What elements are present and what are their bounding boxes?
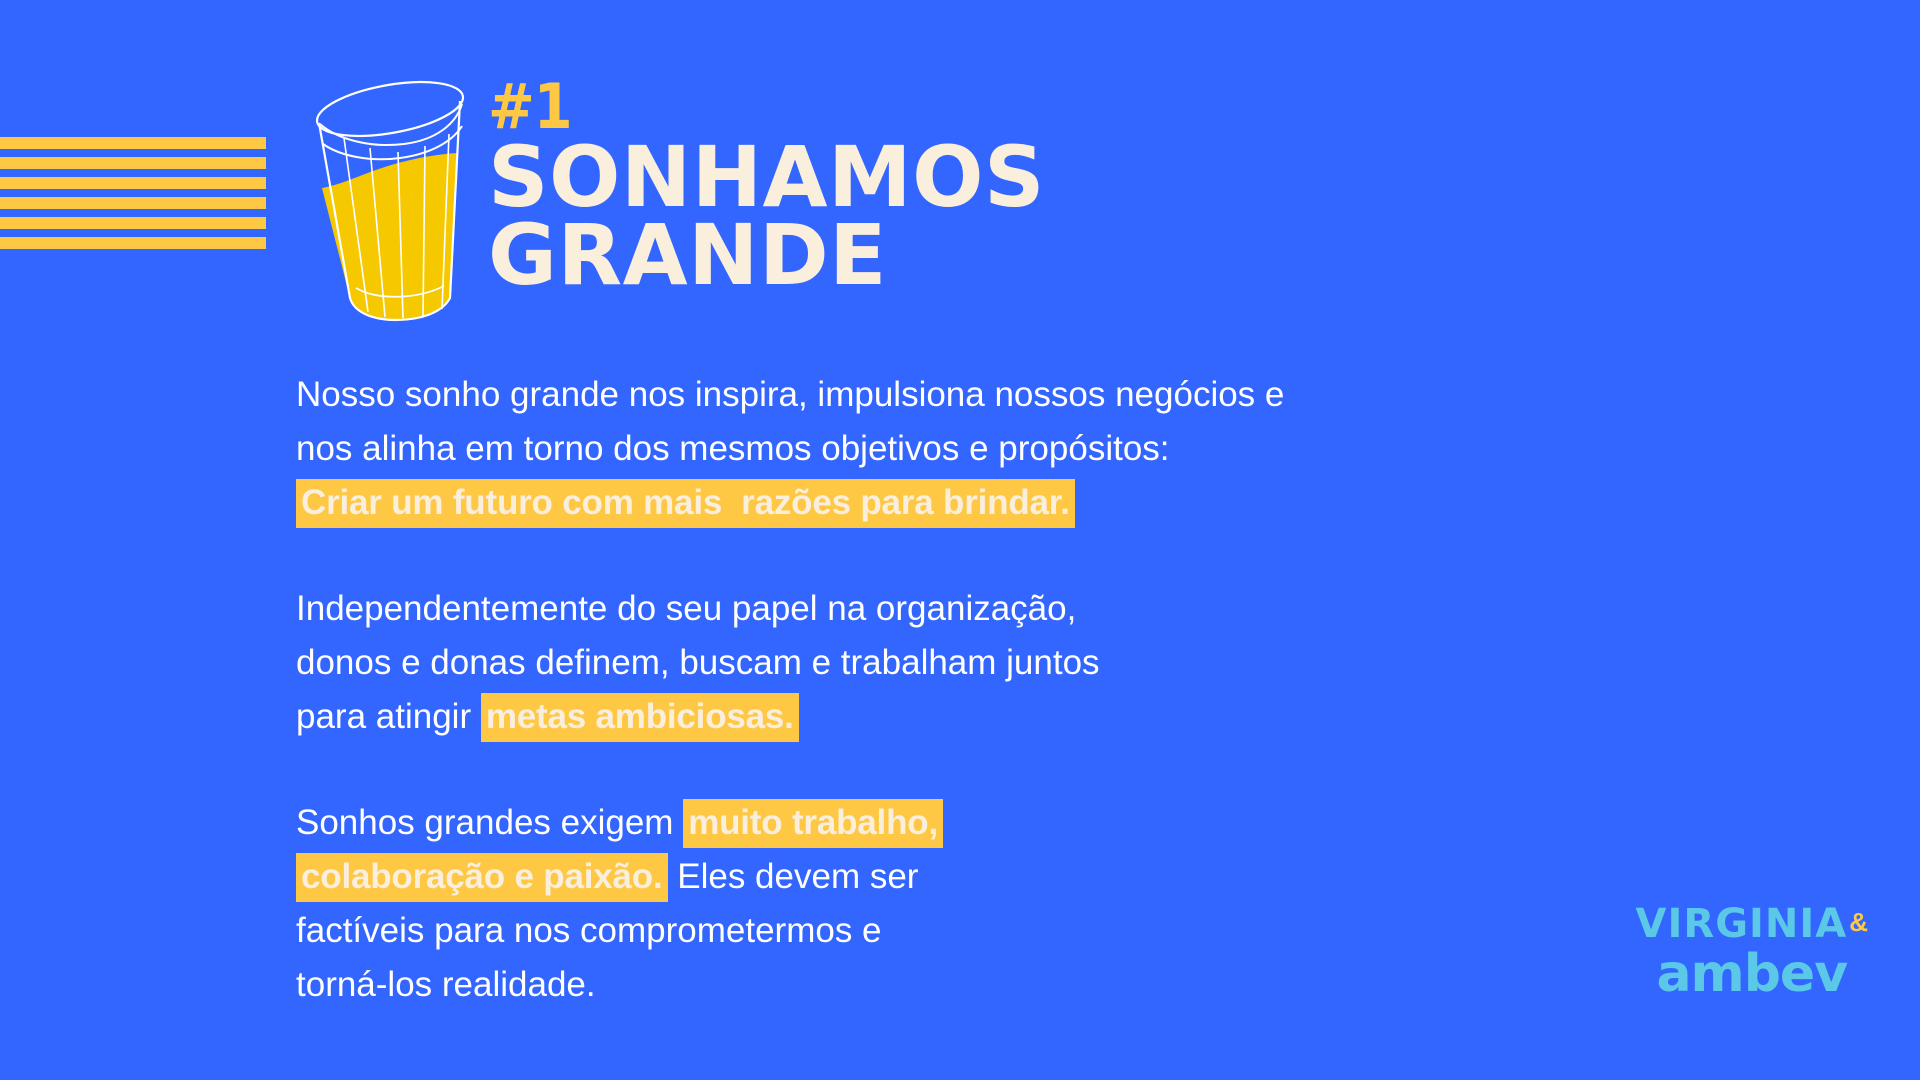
body-line: colaboração e paixão. Eles devem ser [296,850,1546,904]
logo-top-row: VIRGINIA& [1636,904,1868,944]
stripe-bar [0,197,266,209]
headline-line-1: SONHAMOS [488,141,1188,215]
headline-block: #1 SONHAMOS GRANDE [488,78,1188,293]
highlighted-text: metas ambiciosas. [481,693,799,742]
highlighted-text: Criar um futuro com mais razões para bri… [296,479,1075,528]
body-paragraph: Nosso sonho grande nos inspira, impulsio… [296,368,1546,530]
body-text: Nosso sonho grande nos inspira, impulsio… [296,375,1284,414]
stripe-bar [0,177,266,189]
stripe-bar [0,237,266,249]
logo-ambev-text: ambev [1636,948,1868,1000]
body-text: Sonhos grandes exigem [296,803,683,842]
body-text: factíveis para nos comprometermos e [296,911,882,950]
body-text: para atingir [296,697,481,736]
body-line: Sonhos grandes exigem muito trabalho, [296,796,1546,850]
body-line: donos e donas definem, buscam e trabalha… [296,636,1546,690]
body-line: torná-los realidade. [296,958,1546,1012]
slide-canvas: #1 SONHAMOS GRANDE Nosso sonho grande no… [0,0,1920,1080]
highlighted-text: muito trabalho, [683,799,943,848]
headline-line-2: GRANDE [488,219,1188,293]
body-line: Nosso sonho grande nos inspira, impulsio… [296,368,1546,422]
body-text: nos alinha em torno dos mesmos objetivos… [296,429,1170,468]
body-paragraph: Sonhos grandes exigem muito trabalho,col… [296,796,1546,1012]
body-text: torná-los realidade. [296,965,596,1004]
stripe-bar [0,137,266,149]
body-text: Eles devem ser [668,857,919,896]
horizontal-stripes-pattern [0,137,266,237]
body-paragraph: Independentemente do seu papel na organi… [296,582,1546,744]
brand-logo: VIRGINIA& ambev [1636,904,1868,1000]
logo-virginia-text: VIRGINIA [1636,901,1848,947]
body-copy: Nosso sonho grande nos inspira, impulsio… [296,368,1546,1012]
highlighted-text: colaboração e paixão. [296,853,668,902]
body-line: Independentemente do seu papel na organi… [296,582,1546,636]
body-line: factíveis para nos comprometermos e [296,904,1546,958]
body-text: donos e donas definem, buscam e trabalha… [296,643,1100,682]
body-text: Independentemente do seu papel na organi… [296,589,1076,628]
logo-ampersand: & [1849,907,1868,937]
stripe-bar [0,217,266,229]
stripe-bar [0,157,266,169]
body-line: para atingir metas ambiciosas. [296,690,1546,744]
body-line: Criar um futuro com mais razões para bri… [296,476,1546,530]
beer-glass-illustration [292,66,482,331]
body-line: nos alinha em torno dos mesmos objetivos… [296,422,1546,476]
